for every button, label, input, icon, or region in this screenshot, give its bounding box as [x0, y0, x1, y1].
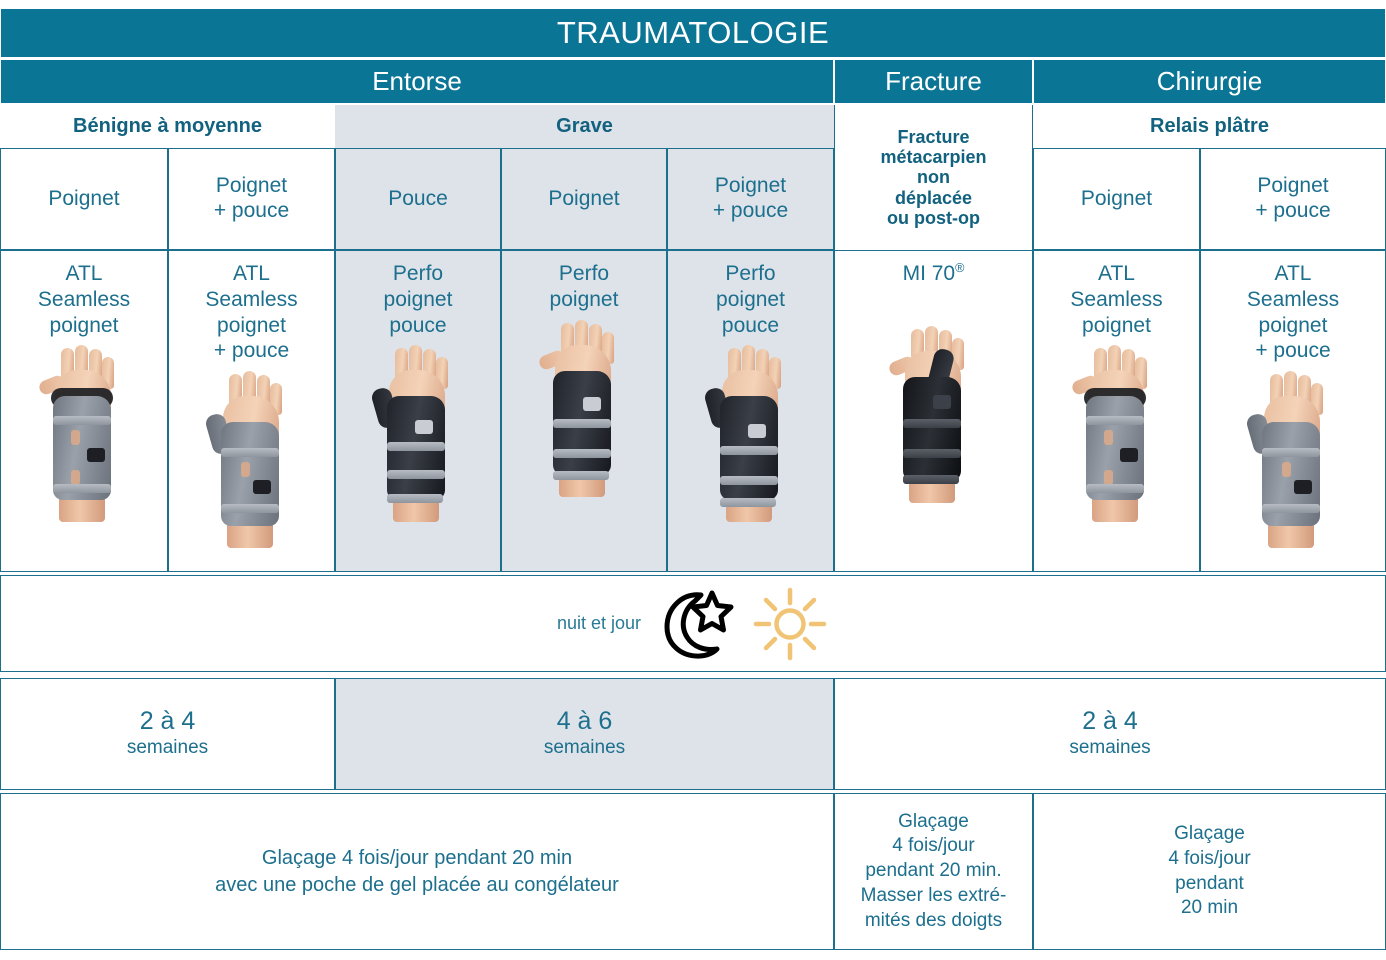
crescent-moon-star-icon: [655, 587, 737, 661]
bodypart-col-4: Poignet: [501, 148, 667, 250]
product-cell-8: ATL Seamless poignet + pouce: [1200, 250, 1386, 572]
wrist-thumb-brace-dark-photo: [692, 344, 810, 522]
product-name-2: ATL Seamless poignet + pouce: [205, 261, 297, 364]
product-cell-1: ATL Seamless poignet: [0, 250, 168, 572]
bodypart-col-7: Poignet: [1033, 148, 1200, 250]
product-cell-6: MI 70®: [834, 250, 1033, 572]
duration-cell-1: 2 à 4 semaines: [0, 678, 335, 790]
product-name-4: Perfo poignet: [550, 261, 619, 313]
wrist-thumb-brace-gray-photo-2: [1234, 370, 1352, 548]
duration-cell-3: 2 à 4 semaines: [834, 678, 1386, 790]
product-name-1: ATL Seamless poignet: [38, 261, 130, 338]
duration-unit-3: semaines: [1069, 736, 1150, 760]
bodypart-col-5: Poignet + pouce: [667, 148, 834, 250]
subsection-fracture-metacarpien: Fracture métacarpien non déplacée ou pos…: [834, 105, 1033, 250]
product-cell-4: Perfo poignet: [501, 250, 667, 572]
product-name-5: Perfo poignet pouce: [716, 261, 785, 338]
product-cell-2: ATL Seamless poignet + pouce: [168, 250, 335, 572]
icing-instruction-1: Glaçage 4 fois/jour pendant 20 min avec …: [0, 793, 834, 950]
product-name-3: Perfo poignet pouce: [384, 261, 453, 338]
subsection-benigne-a-moyenne: Bénigne à moyenne: [0, 105, 335, 148]
wrist-brace-gray-photo: [25, 344, 143, 522]
product-cell-5: Perfo poignet pouce: [667, 250, 834, 572]
icing-instruction-2: Glaçage 4 fois/jour pendant 20 min. Mass…: [834, 793, 1033, 950]
traumatology-reference-table: TRAUMATOLOGIE Entorse Fracture Chirurgie…: [0, 0, 1386, 960]
product-cell-7: ATL Seamless poignet: [1033, 250, 1200, 572]
sun-icon: [751, 587, 829, 661]
duration-value-3: 2 à 4: [1082, 708, 1138, 736]
wrist-brace-dark-photo: [525, 319, 643, 497]
bodypart-col-8: Poignet + pouce: [1200, 148, 1386, 250]
wrist-thumb-brace-gray-photo: [193, 370, 311, 548]
wear-schedule-label: nuit et jour: [557, 613, 641, 634]
subsection-relais-platre: Relais plâtre: [1033, 105, 1386, 148]
product-cell-3: Perfo poignet pouce: [335, 250, 501, 572]
section-chirurgie: Chirurgie: [1033, 59, 1386, 104]
section-entorse: Entorse: [0, 59, 834, 104]
bodypart-col-3: Pouce: [335, 148, 501, 250]
thumb-brace-dark-photo: [359, 344, 477, 522]
section-fracture: Fracture: [834, 59, 1033, 104]
mi70-brace-black-photo: [875, 325, 993, 503]
bodypart-col-1: Poignet: [0, 148, 168, 250]
duration-unit-1: semaines: [127, 736, 208, 760]
duration-cell-2: 4 à 6 semaines: [335, 678, 834, 790]
duration-unit-2: semaines: [544, 736, 625, 760]
wrist-brace-gray-photo-2: [1058, 344, 1176, 522]
subsection-grave: Grave: [335, 105, 834, 148]
duration-value-2: 4 à 6: [557, 708, 613, 736]
bodypart-col-2: Poignet + pouce: [168, 148, 335, 250]
product-name-6: MI 70®: [903, 261, 965, 287]
icing-instruction-3: Glaçage 4 fois/jour pendant 20 min: [1033, 793, 1386, 950]
duration-value-1: 2 à 4: [140, 708, 196, 736]
page-title: TRAUMATOLOGIE: [0, 8, 1386, 58]
product-name-7: ATL Seamless poignet: [1070, 261, 1162, 338]
wear-schedule-row: nuit et jour: [0, 575, 1386, 672]
product-name-8: ATL Seamless poignet + pouce: [1247, 261, 1339, 364]
